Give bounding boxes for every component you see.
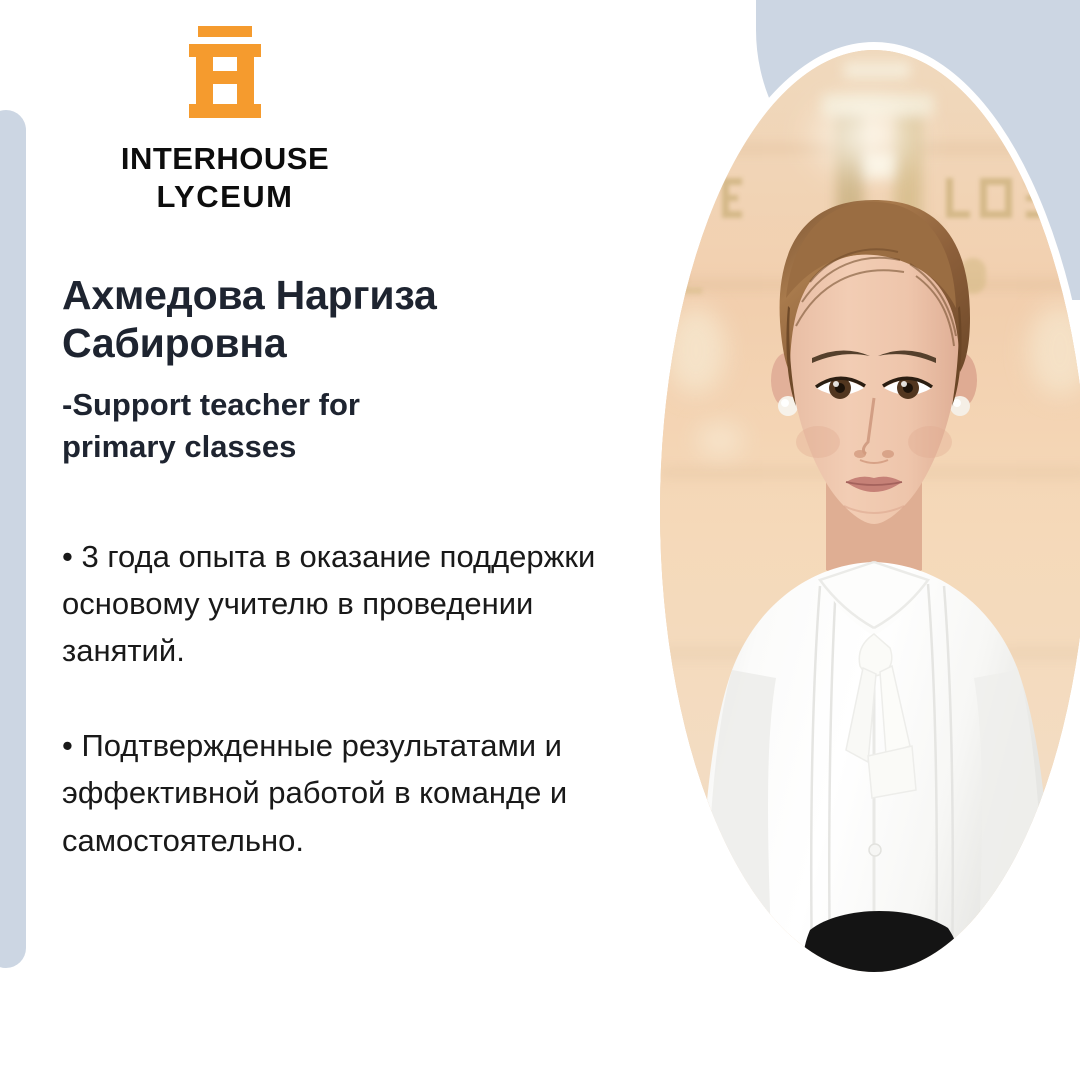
profile-card: INTERHOUSE LYCEUM Ахмедова Наргиза Сабир… [0, 0, 1080, 1080]
page-title: Ахмедова Наргиза Сабировна [62, 272, 622, 368]
list-item: • 3 года опыта в оказание поддержки осно… [62, 533, 632, 674]
brand-wordmark-line1: INTERHOUSE [60, 140, 390, 178]
left-accent-bar [0, 110, 26, 968]
list-item: • Подтвержденные результатами и эффектив… [62, 722, 632, 863]
profile-role: -Support teacher for primary classes [62, 384, 622, 468]
brand-wordmark: INTERHOUSE LYCEUM [60, 140, 390, 216]
portrait-frame [652, 42, 1080, 980]
portrait-illustration [660, 50, 1080, 972]
brand-wordmark-line2: LYCEUM [60, 178, 390, 216]
profile-bullet-list: • 3 года опыта в оказание поддержки осно… [62, 533, 632, 864]
profile-heading-block: Ахмедова Наргиза Сабировна -Support teac… [62, 272, 622, 468]
avatar [660, 50, 1080, 972]
brand-logo-block: INTERHOUSE LYCEUM [60, 26, 390, 216]
column-pillar-icon [189, 26, 261, 122]
